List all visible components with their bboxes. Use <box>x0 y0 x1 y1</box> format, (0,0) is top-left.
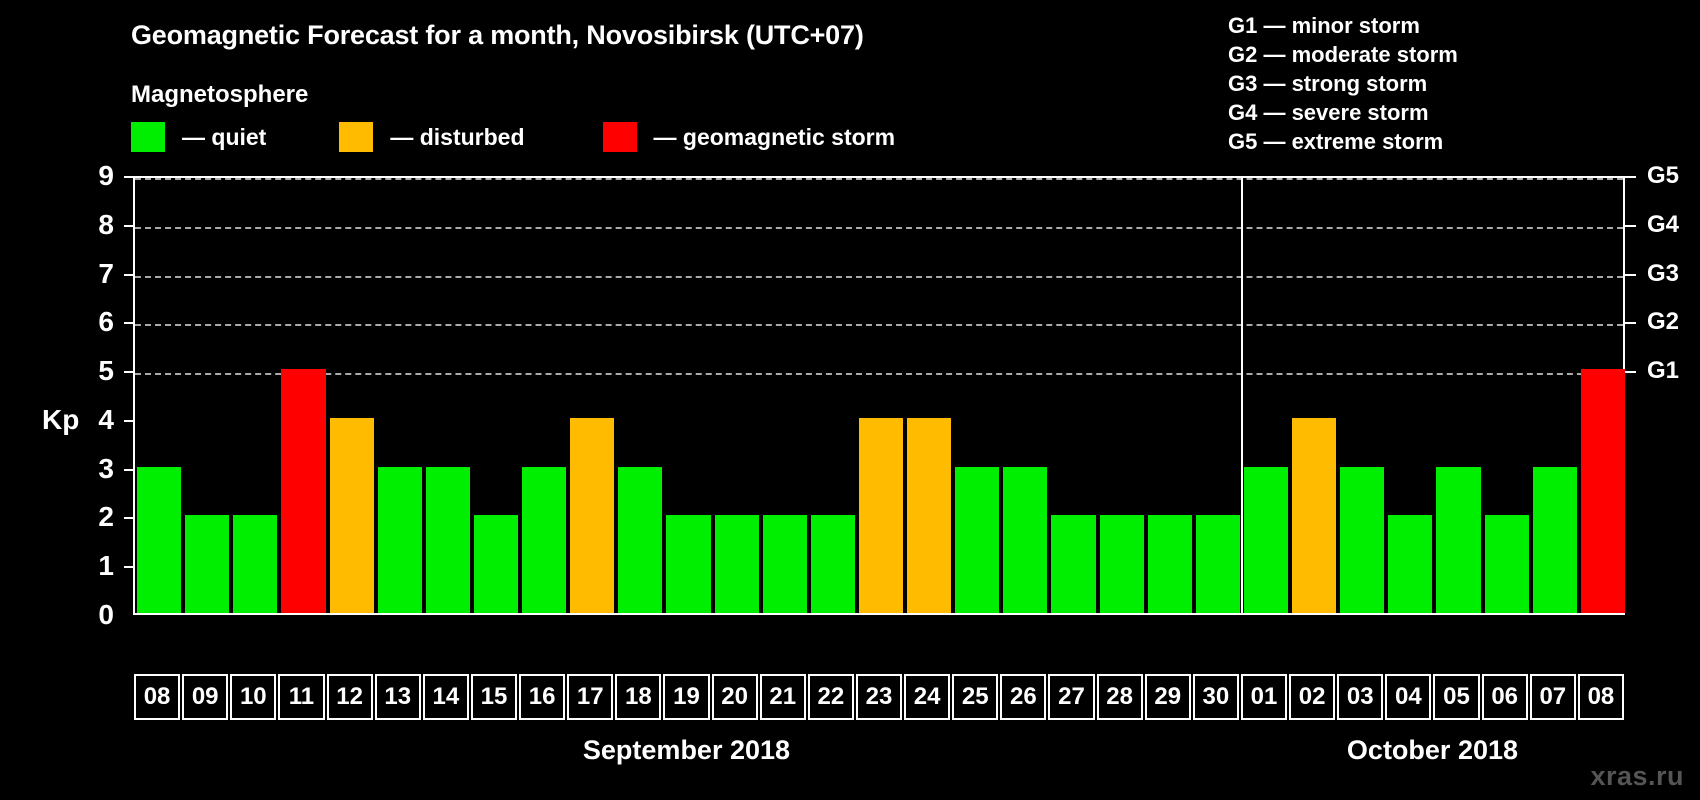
date-cell: 26 <box>1000 674 1046 720</box>
date-cell: 20 <box>712 674 758 720</box>
gridline-kp-5 <box>135 373 1623 375</box>
bar <box>1148 515 1192 613</box>
right-axis-label-G4: G4 <box>1647 211 1679 239</box>
page-title: Geomagnetic Forecast for a month, Novosi… <box>131 20 864 51</box>
right-axis-tick-G1 <box>1625 371 1636 373</box>
y-tick-mark-4 <box>124 420 133 422</box>
bar <box>281 369 325 613</box>
bar <box>1388 515 1432 613</box>
bar <box>859 418 903 613</box>
y-tick-label-4: 4 <box>98 404 114 436</box>
date-cell: 28 <box>1097 674 1143 720</box>
bar <box>1292 418 1336 613</box>
date-cell: 14 <box>423 674 469 720</box>
legend-label-quiet: — quiet <box>182 124 266 151</box>
g-scale-line-1: G1 — minor storm <box>1228 11 1458 40</box>
date-cell: 07 <box>1530 674 1576 720</box>
legend-item-storm: — geomagnetic storm <box>603 122 896 152</box>
right-axis-tick-G2 <box>1625 322 1636 324</box>
date-cell: 22 <box>808 674 854 720</box>
gridline-kp-7 <box>135 276 1623 278</box>
y-tick-mark-1 <box>124 566 133 568</box>
legend-swatch-quiet <box>131 122 165 152</box>
legend-swatch-storm <box>603 122 637 152</box>
y-tick-label-0: 0 <box>98 599 114 631</box>
date-cell: 04 <box>1385 674 1431 720</box>
y-axis-title: Kp <box>42 404 79 436</box>
bar <box>666 515 710 613</box>
bar <box>907 418 951 613</box>
bar <box>233 515 277 613</box>
right-axis-tick-labels: G1G2G3G4G5 <box>1647 0 1700 800</box>
right-axis-tick-G4 <box>1625 225 1636 227</box>
right-axis-label-G2: G2 <box>1647 308 1679 336</box>
date-cell: 12 <box>327 674 373 720</box>
bar <box>1436 467 1480 613</box>
legend-item-disturbed: — disturbed <box>339 122 524 152</box>
legend-label-disturbed: — disturbed <box>390 124 524 151</box>
legend-item-quiet: — quiet <box>131 122 266 152</box>
y-tick-mark-3 <box>124 469 133 471</box>
bar <box>1100 515 1144 613</box>
date-cell: 13 <box>375 674 421 720</box>
y-tick-mark-5 <box>124 371 133 373</box>
bar <box>1485 515 1529 613</box>
bar <box>715 515 759 613</box>
date-cell: 08 <box>134 674 180 720</box>
legend-heading: Magnetosphere <box>131 81 308 109</box>
bar <box>570 418 614 613</box>
y-tick-mark-6 <box>124 322 133 324</box>
y-tick-mark-2 <box>124 517 133 519</box>
g-scale-line-5: G5 — extreme storm <box>1228 127 1458 156</box>
bar <box>618 467 662 613</box>
date-cell: 15 <box>471 674 517 720</box>
month-caption: September 2018 <box>583 735 790 766</box>
bar <box>763 515 807 613</box>
bar <box>955 467 999 613</box>
y-tick-mark-7 <box>124 274 133 276</box>
y-tick-label-7: 7 <box>98 258 114 290</box>
bar <box>1003 467 1047 613</box>
right-axis-tick-G5 <box>1625 176 1636 178</box>
y-tick-mark-9 <box>124 176 133 178</box>
date-cell: 16 <box>519 674 565 720</box>
plot-inner <box>135 178 1623 613</box>
g-scale-line-3: G3 — strong storm <box>1228 69 1458 98</box>
date-cell: 10 <box>230 674 276 720</box>
g-scale-line-2: G2 — moderate storm <box>1228 40 1458 69</box>
bar <box>378 467 422 613</box>
date-cell: 21 <box>760 674 806 720</box>
y-tick-label-8: 8 <box>98 209 114 241</box>
legend-label-storm: — geomagnetic storm <box>654 124 896 151</box>
bar <box>1196 515 1240 613</box>
date-cell: 27 <box>1048 674 1094 720</box>
bar <box>522 467 566 613</box>
bar <box>811 515 855 613</box>
date-cell: 06 <box>1482 674 1528 720</box>
right-axis-label-G1: G1 <box>1647 357 1679 385</box>
legend: — quiet — disturbed — geomagnetic storm <box>131 122 895 152</box>
date-cell: 05 <box>1433 674 1479 720</box>
right-axis-tick-G3 <box>1625 274 1636 276</box>
date-cell: 30 <box>1193 674 1239 720</box>
right-axis-label-G3: G3 <box>1647 260 1679 288</box>
date-cell: 03 <box>1337 674 1383 720</box>
date-cell: 24 <box>904 674 950 720</box>
date-cell: 25 <box>952 674 998 720</box>
date-cell: 08 <box>1578 674 1624 720</box>
bar <box>1051 515 1095 613</box>
y-tick-label-5: 5 <box>98 355 114 387</box>
bar <box>330 418 374 613</box>
bar <box>426 467 470 613</box>
bar <box>185 515 229 613</box>
y-tick-label-6: 6 <box>98 306 114 338</box>
date-cell: 23 <box>856 674 902 720</box>
plot-area <box>133 176 1625 615</box>
geomagnetic-forecast-chart: Geomagnetic Forecast for a month, Novosi… <box>0 0 1700 800</box>
g-scale-legend: G1 — minor stormG2 — moderate stormG3 — … <box>1228 11 1458 156</box>
bar <box>137 467 181 613</box>
date-cell: 19 <box>663 674 709 720</box>
date-cell: 18 <box>615 674 661 720</box>
watermark: xras.ru <box>1590 761 1684 792</box>
bar <box>1340 467 1384 613</box>
date-cell: 17 <box>567 674 613 720</box>
bar <box>1581 369 1625 613</box>
gridline-kp-8 <box>135 227 1623 229</box>
date-cell: 29 <box>1145 674 1191 720</box>
date-axis: 0809101112131415161718192021222324252627… <box>133 674 1625 720</box>
month-divider <box>1241 178 1243 613</box>
right-axis-label-G5: G5 <box>1647 162 1679 190</box>
y-tick-label-2: 2 <box>98 501 114 533</box>
g-scale-line-4: G4 — severe storm <box>1228 98 1458 127</box>
y-tick-label-3: 3 <box>98 453 114 485</box>
legend-swatch-disturbed <box>339 122 373 152</box>
date-cell: 09 <box>182 674 228 720</box>
y-axis-tick-labels: 0123456789 <box>78 0 114 800</box>
bar <box>1533 467 1577 613</box>
y-tick-label-1: 1 <box>98 550 114 582</box>
gridline-kp-9 <box>135 178 1623 180</box>
bar <box>1244 467 1288 613</box>
right-axis-tick-marks <box>1625 0 1639 800</box>
bar <box>474 515 518 613</box>
date-cell: 01 <box>1241 674 1287 720</box>
date-cell: 11 <box>278 674 324 720</box>
gridline-kp-6 <box>135 324 1623 326</box>
y-tick-mark-8 <box>124 225 133 227</box>
date-cell: 02 <box>1289 674 1335 720</box>
y-tick-label-9: 9 <box>98 160 114 192</box>
month-caption: October 2018 <box>1347 735 1518 766</box>
